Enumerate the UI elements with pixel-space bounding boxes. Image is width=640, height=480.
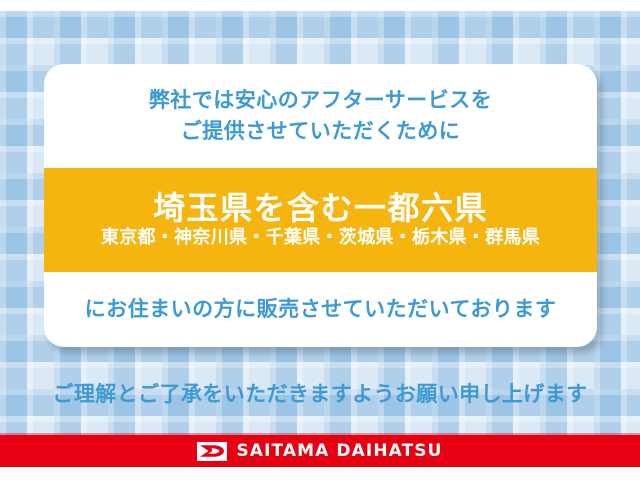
bottom-white-margin	[0, 467, 640, 480]
brand-name: SAITAMA DAIHATSU	[236, 441, 442, 461]
intro-line-1: 弊社では安心のアフターサービスを	[149, 88, 493, 114]
band-headline: 埼玉県を含む一都六県	[153, 191, 488, 226]
notice-banner-image: 弊社では安心のアフターサービスを ご提供させていただくために 埼玉県を含む一都六…	[0, 0, 640, 480]
highlight-band: 埼玉県を含む一都六県 東京都・神奈川県・千葉県・茨城県・栃木県・群馬県	[44, 168, 597, 272]
card-intro-block: 弊社では安心のアフターサービスを ご提供させていただくために	[44, 64, 597, 168]
top-white-margin	[0, 0, 640, 11]
notice-card: 弊社では安心のアフターサービスを ご提供させていただくために 埼玉県を含む一都六…	[44, 64, 597, 347]
brand-footer-bar: SAITAMA DAIHATSU	[0, 435, 640, 467]
intro-line-2: ご提供させていただくために	[181, 119, 461, 145]
closing-line: にお住まいの方に販売させていただいております	[85, 297, 557, 323]
caption-text: ご理解とご了承をいただきますようお願い申し上げます	[0, 378, 640, 408]
daihatsu-d-logo-icon	[197, 442, 227, 461]
band-prefecture-list: 東京都・神奈川県・千葉県・茨城県・栃木県・群馬県	[101, 228, 540, 249]
card-closing-block: にお住まいの方に販売させていただいております	[44, 272, 597, 347]
